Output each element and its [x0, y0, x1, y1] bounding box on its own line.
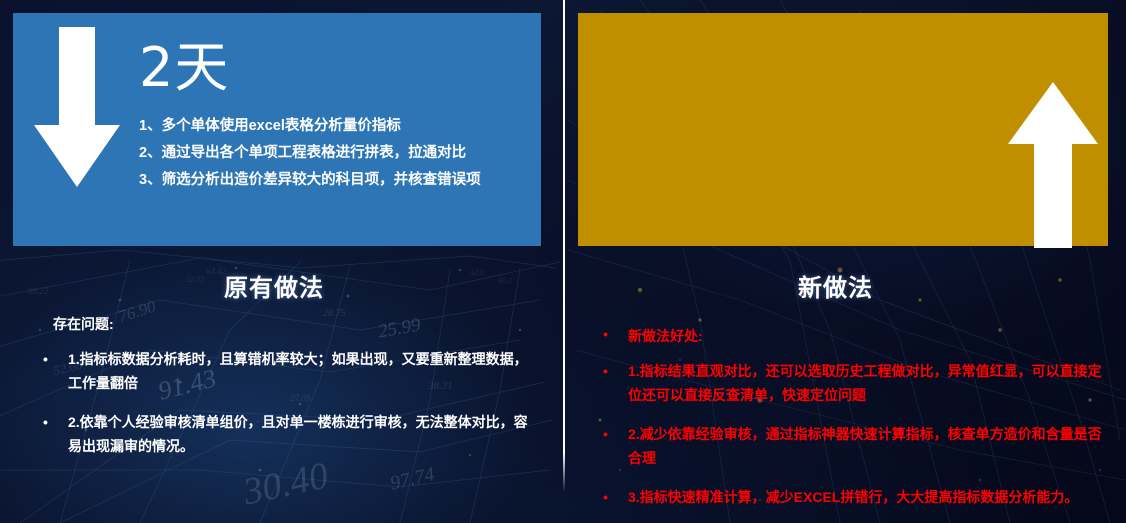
new-section-body: • 新做法好处: • 1.指标结果直观对比，还可以选取历史工程做对比，异常值红显…	[600, 326, 1105, 523]
step-text: 筛选分析出造价差异较大的科目项，并核查错误项	[162, 172, 481, 188]
list-item: • 1.指标结果直观对比，还可以选取历史工程做对比，异常值红显，可以直接定位还可…	[600, 359, 1105, 407]
new-section-lead: • 新做法好处:	[600, 326, 1105, 346]
old-problem-list: • 1.指标标数据分析耗时，且算错机率较大；如果出现，又要重新整理数据，工作量翻…	[40, 347, 540, 458]
list-item: • 3.指标快速精准计算，减少EXCEL拼错行，大大提高指标数据分析能力。	[600, 485, 1105, 509]
bullet-icon: •	[43, 347, 48, 371]
bullet-text: 3.指标快速精准计算，减少EXCEL拼错行，大大提高指标数据分析能力。	[628, 489, 1078, 505]
list-item: • 2.减少依靠经验审核，通过指标神器快速计算指标，核查单方造价和含量是否合理	[600, 422, 1105, 470]
step-text: 通过导出各个单项工程表格进行拼表，拉通对比	[162, 145, 467, 161]
old-method-step-list: 1、多个单体使用excel表格分析量价指标 2、通过导出各个单项工程表格进行拼表…	[139, 113, 539, 194]
old-section-lead: 存在问题:	[53, 314, 540, 334]
arrow-down-icon	[34, 27, 120, 187]
bullet-icon: •	[603, 326, 608, 342]
bullet-icon: •	[603, 422, 608, 446]
bullet-icon: •	[43, 410, 48, 434]
list-item: • 2.依靠个人经验审核清单组价，且对单一楼栋进行审核，无法整体对比，容易出现漏…	[40, 410, 540, 458]
bullet-text: 2.减少依靠经验审核，通过指标神器快速计算指标，核查单方造价和含量是否合理	[628, 426, 1102, 466]
old-section-body: 存在问题: • 1.指标标数据分析耗时，且算错机率较大；如果出现，又要重新整理数…	[40, 314, 540, 473]
bullet-icon: •	[603, 485, 608, 509]
new-benefit-list: • 1.指标结果直观对比，还可以选取历史工程做对比，异常值红显，可以直接定位还可…	[600, 359, 1105, 509]
new-section-lead-text: 新做法好处:	[628, 328, 703, 344]
background-number: 32.0	[470, 268, 484, 277]
list-item: 2、通过导出各个单项工程表格进行拼表，拉通对比	[139, 140, 539, 167]
step-number: 2、	[139, 145, 162, 161]
list-item: 3、筛选分析出造价差异较大的科目项，并核查错误项	[139, 167, 539, 194]
bullet-text: 1.指标标数据分析耗时，且算错机率较大；如果出现，又要重新整理数据，工作量翻倍	[68, 351, 528, 391]
step-text: 多个单体使用excel表格分析量价指标	[162, 118, 401, 134]
bullet-text: 1.指标结果直观对比，还可以选取历史工程做对比，异常值红显，可以直接定位还可以直…	[628, 363, 1102, 403]
vertical-divider	[563, 0, 565, 492]
bullet-icon: •	[603, 359, 608, 383]
old-section-title: 原有做法	[224, 268, 324, 303]
bullet-text: 2.依靠个人经验审核清单组价，且对单一楼栋进行审核，无法整体对比，容易出现漏审的…	[68, 414, 528, 454]
step-number: 3、	[139, 172, 162, 188]
slide-canvas: 76.9025.9991.4330.4097.7452.6838.3128.75…	[0, 0, 1126, 523]
list-item: 1、多个单体使用excel表格分析量价指标	[139, 113, 539, 140]
old-method-panel: 2天 1、多个单体使用excel表格分析量价指标 2、通过导出各个单项工程表格进…	[13, 13, 541, 246]
step-number: 1、	[139, 118, 162, 134]
background-number: 60.1	[498, 276, 512, 285]
new-method-panel: 1.指标神器进行分析该项目指标数据 2.筛选指标库或者个人账号库历史项目进行指标…	[578, 13, 1108, 246]
background-number: 98.22	[28, 286, 48, 296]
background-number: 22.05	[186, 275, 204, 284]
old-duration-headline: 2天	[139, 41, 229, 95]
new-section-title: 新做法	[798, 268, 873, 303]
list-item: • 1.指标标数据分析耗时，且算错机率较大；如果出现，又要重新整理数据，工作量翻…	[40, 347, 540, 395]
